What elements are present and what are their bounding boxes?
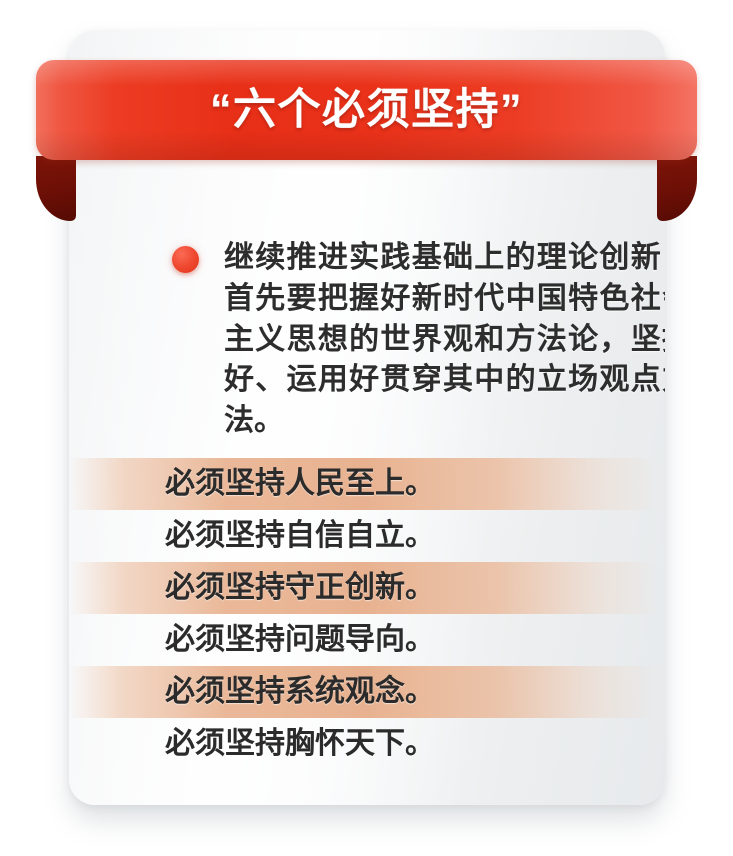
list-item-label: 必须坚持胸怀天下。 <box>165 729 435 759</box>
ribbon-fold-right <box>657 156 697 221</box>
ribbon-band: “六个必须坚持” <box>36 60 697 160</box>
title-ribbon: “六个必须坚持” <box>0 60 733 163</box>
list-item-label: 必须坚持自信自立。 <box>165 521 435 551</box>
red-dot-bullet-icon <box>172 246 199 273</box>
list-item[interactable]: 必须坚持人民至上。 <box>69 458 665 510</box>
list-item[interactable]: 必须坚持系统观念。 <box>69 666 665 718</box>
list-item[interactable]: 必须坚持问题导向。 <box>69 614 665 666</box>
ribbon-fold-left <box>36 156 76 221</box>
lead-paragraph-text: 继续推进实践基础上的理论创新，首先要把握好新时代中国特色社会主义思想的世界观和方… <box>224 238 665 442</box>
page-title: “六个必须坚持” <box>210 89 523 132</box>
list-item-label: 必须坚持系统观念。 <box>165 677 435 707</box>
lead-paragraph-block: 继续推进实践基础上的理论创新，首先要把握好新时代中国特色社会主义思想的世界观和方… <box>172 238 665 442</box>
list-item-label: 必须坚持守正创新。 <box>165 573 435 603</box>
list-item-label: 必须坚持问题导向。 <box>165 625 435 655</box>
list-item-label: 必须坚持人民至上。 <box>165 469 435 499</box>
list-item[interactable]: 必须坚持胸怀天下。 <box>69 718 665 770</box>
list-item[interactable]: 必须坚持自信自立。 <box>69 510 665 562</box>
principle-list: 必须坚持人民至上。 必须坚持自信自立。 必须坚持守正创新。 必须坚持问题导向。 … <box>69 458 665 770</box>
list-item[interactable]: 必须坚持守正创新。 <box>69 562 665 614</box>
